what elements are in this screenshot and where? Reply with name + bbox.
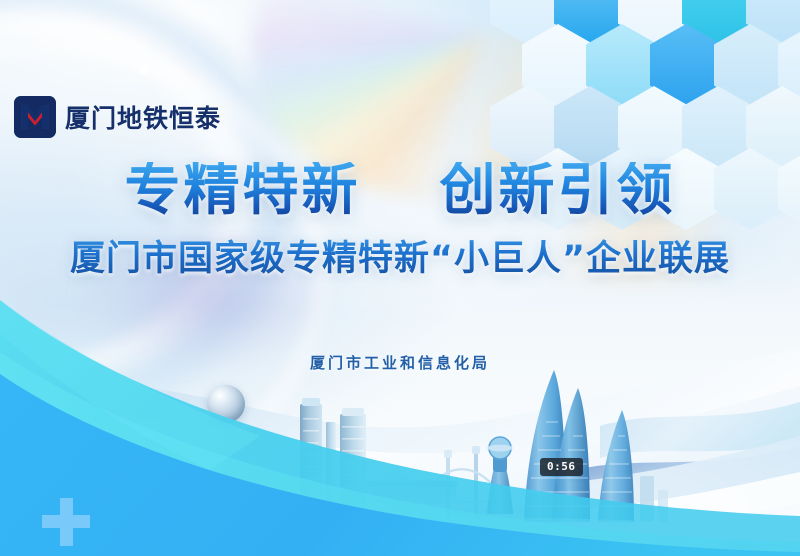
xiamen-metro-hengtai-logo-icon <box>14 96 56 138</box>
organizer-label: 厦门市工业和信息化局 <box>0 352 800 373</box>
brand-logo[interactable]: 厦门地铁恒泰 <box>14 96 221 138</box>
main-title: 专精特新 创新引领 <box>0 162 800 220</box>
promotional-poster: 厦门地铁恒泰 专精特新 创新引领 厦门市国家级专精特新“小巨人”企业联展 厦门市… <box>0 0 800 556</box>
plus-mark-icon <box>42 498 90 546</box>
title-block: 专精特新 创新引领 厦门市国家级专精特新“小巨人”企业联展 <box>0 162 800 281</box>
brand-name: 厦门地铁恒泰 <box>65 99 221 135</box>
main-title-right: 创新引领 <box>440 158 676 223</box>
main-title-left: 专精特新 <box>125 158 361 223</box>
video-duration-badge: 0:56 <box>540 458 583 476</box>
subtitle: 厦门市国家级专精特新“小巨人”企业联展 <box>0 230 800 281</box>
